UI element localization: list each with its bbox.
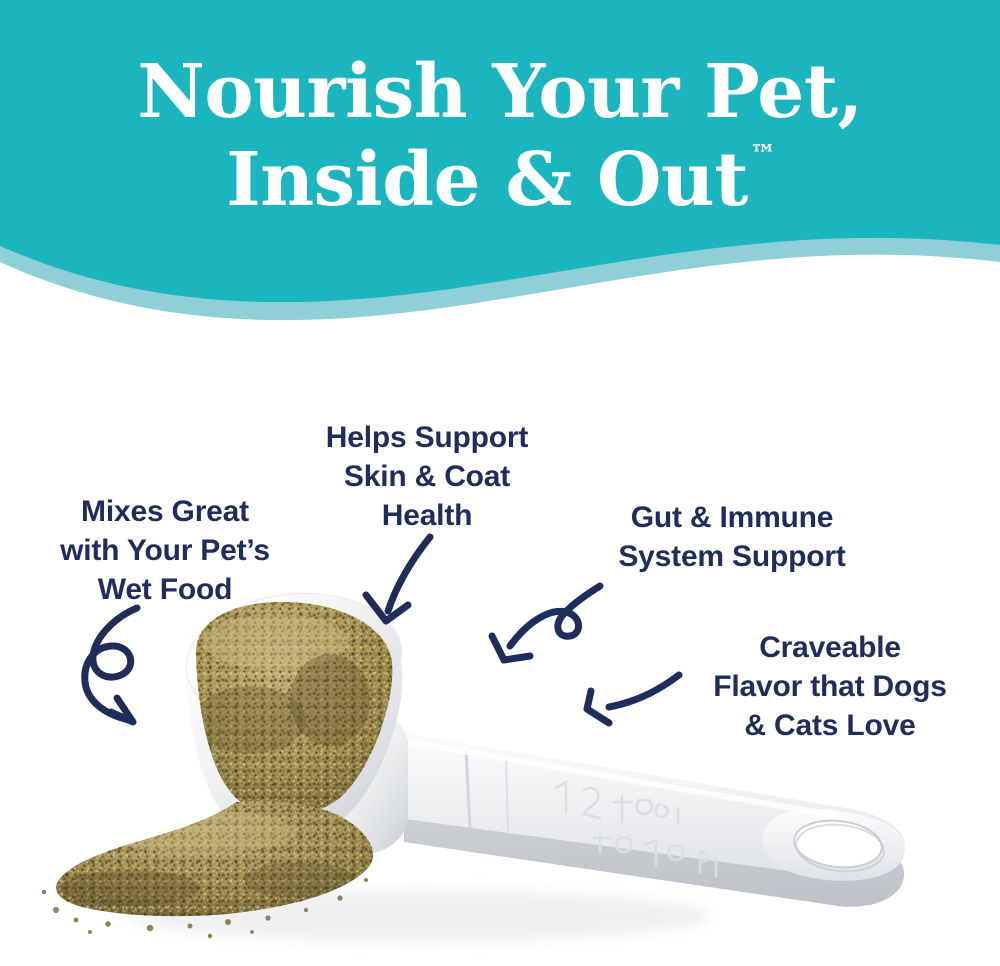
callout-gut-line-1: Gut & Immune [572, 498, 892, 537]
callout-skin-coat: Helps Support Skin & Coat Health [282, 418, 572, 535]
page-title-line-2: Inside & Out [226, 137, 748, 223]
callout-mixes-line-2: with Your Pet’s [20, 531, 310, 570]
callout-gut-line-2: System Support [572, 537, 892, 576]
callout-craveable-line-2: Flavor that Dogs [665, 667, 995, 706]
promo-banner-page: Nourish Your Pet, Inside & Out™ [0, 0, 1000, 966]
callout-gut-immune: Gut & Immune System Support [572, 498, 892, 576]
callout-skincoat-line-2: Skin & Coat [282, 457, 572, 496]
callout-craveable-line-1: Craveable [665, 628, 995, 667]
trademark-symbol: ™ [750, 140, 776, 170]
page-title-line-1: Nourish Your Pet, [0, 48, 1000, 136]
page-title-line-2-wrap: Inside & Out™ [226, 136, 774, 224]
curved-arrow-down-left-icon [350, 525, 460, 640]
scoop-handle [398, 732, 905, 907]
callout-craveable-line-3: & Cats Love [665, 706, 995, 745]
curly-loop-arrow-down-right-icon [55, 600, 195, 730]
callout-craveable-flavor: Craveable Flavor that Dogs & Cats Love [665, 628, 995, 745]
header-banner: Nourish Your Pet, Inside & Out™ [0, 0, 1000, 330]
callout-skincoat-line-1: Helps Support [282, 418, 572, 457]
callout-mixes-line-1: Mixes Great [20, 492, 310, 531]
page-title: Nourish Your Pet, Inside & Out™ [0, 48, 1000, 224]
callout-mixes-great: Mixes Great with Your Pet’s Wet Food [20, 492, 310, 609]
curved-arrow-left-icon [575, 665, 690, 745]
